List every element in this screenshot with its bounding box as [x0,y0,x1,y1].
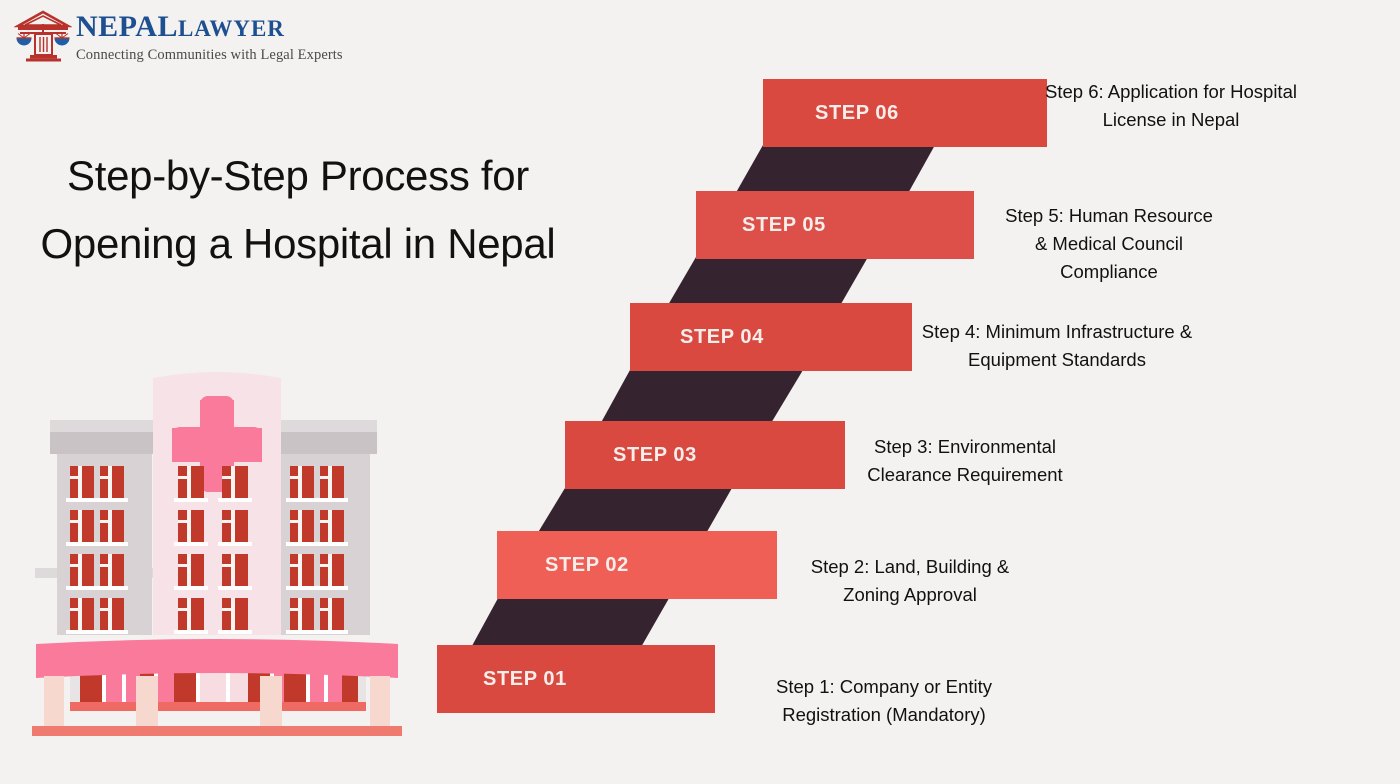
step-ribbon-5[interactable]: STEP 05 [696,191,974,259]
step-caption-2-line-2: Zoning Approval [780,581,1040,609]
step-caption-4-line-1: Step 4: Minimum Infrastructure & [892,318,1222,346]
step-caption-2: Step 2: Land, Building & Zoning Approval [780,553,1040,609]
step-caption-3-line-2: Clearance Requirement [832,461,1098,489]
step-caption-3: Step 3: Environmental Clearance Requirem… [832,433,1098,489]
step-caption-1: Step 1: Company or Entity Registration (… [752,673,1016,729]
step-caption-6-line-2: License in Nepal [1010,106,1332,134]
step-caption-5: Step 5: Human Resource & Medical Council… [963,202,1255,286]
infographic-canvas: NEPALLAWYER Connecting Communities with … [0,0,1400,784]
step-ribbon-3[interactable]: STEP 03 [565,421,845,489]
step-ribbon-4[interactable]: STEP 04 [630,303,912,371]
step-caption-5-line-2: & Medical Council [963,230,1255,258]
step-caption-2-line-1: Step 2: Land, Building & [780,553,1040,581]
step-caption-1-line-2: Registration (Mandatory) [752,701,1016,729]
step-badge-5: STEP 05 [742,214,826,237]
step-caption-6: Step 6: Application for Hospital License… [1010,78,1332,134]
step-caption-3-line-1: Step 3: Environmental [832,433,1098,461]
step-ribbon-6[interactable]: STEP 06 [763,79,1047,147]
step-caption-5-line-1: Step 5: Human Resource [963,202,1255,230]
step-badge-4: STEP 04 [680,326,764,349]
step-flow-chart: STEP 06 Step 6: Application for Hospital… [0,0,1400,784]
step-caption-4: Step 4: Minimum Infrastructure & Equipme… [892,318,1222,374]
step-caption-5-line-3: Compliance [963,258,1255,286]
step-ribbon-2[interactable]: STEP 02 [497,531,777,599]
step-badge-1: STEP 01 [483,668,567,691]
step-badge-2: STEP 02 [545,554,629,577]
step-caption-1-line-1: Step 1: Company or Entity [752,673,1016,701]
step-caption-4-line-2: Equipment Standards [892,346,1222,374]
step-ribbon-1[interactable]: STEP 01 [437,645,715,713]
step-badge-3: STEP 03 [613,444,697,467]
step-caption-6-line-1: Step 6: Application for Hospital [1010,78,1332,106]
step-badge-6: STEP 06 [815,102,899,125]
